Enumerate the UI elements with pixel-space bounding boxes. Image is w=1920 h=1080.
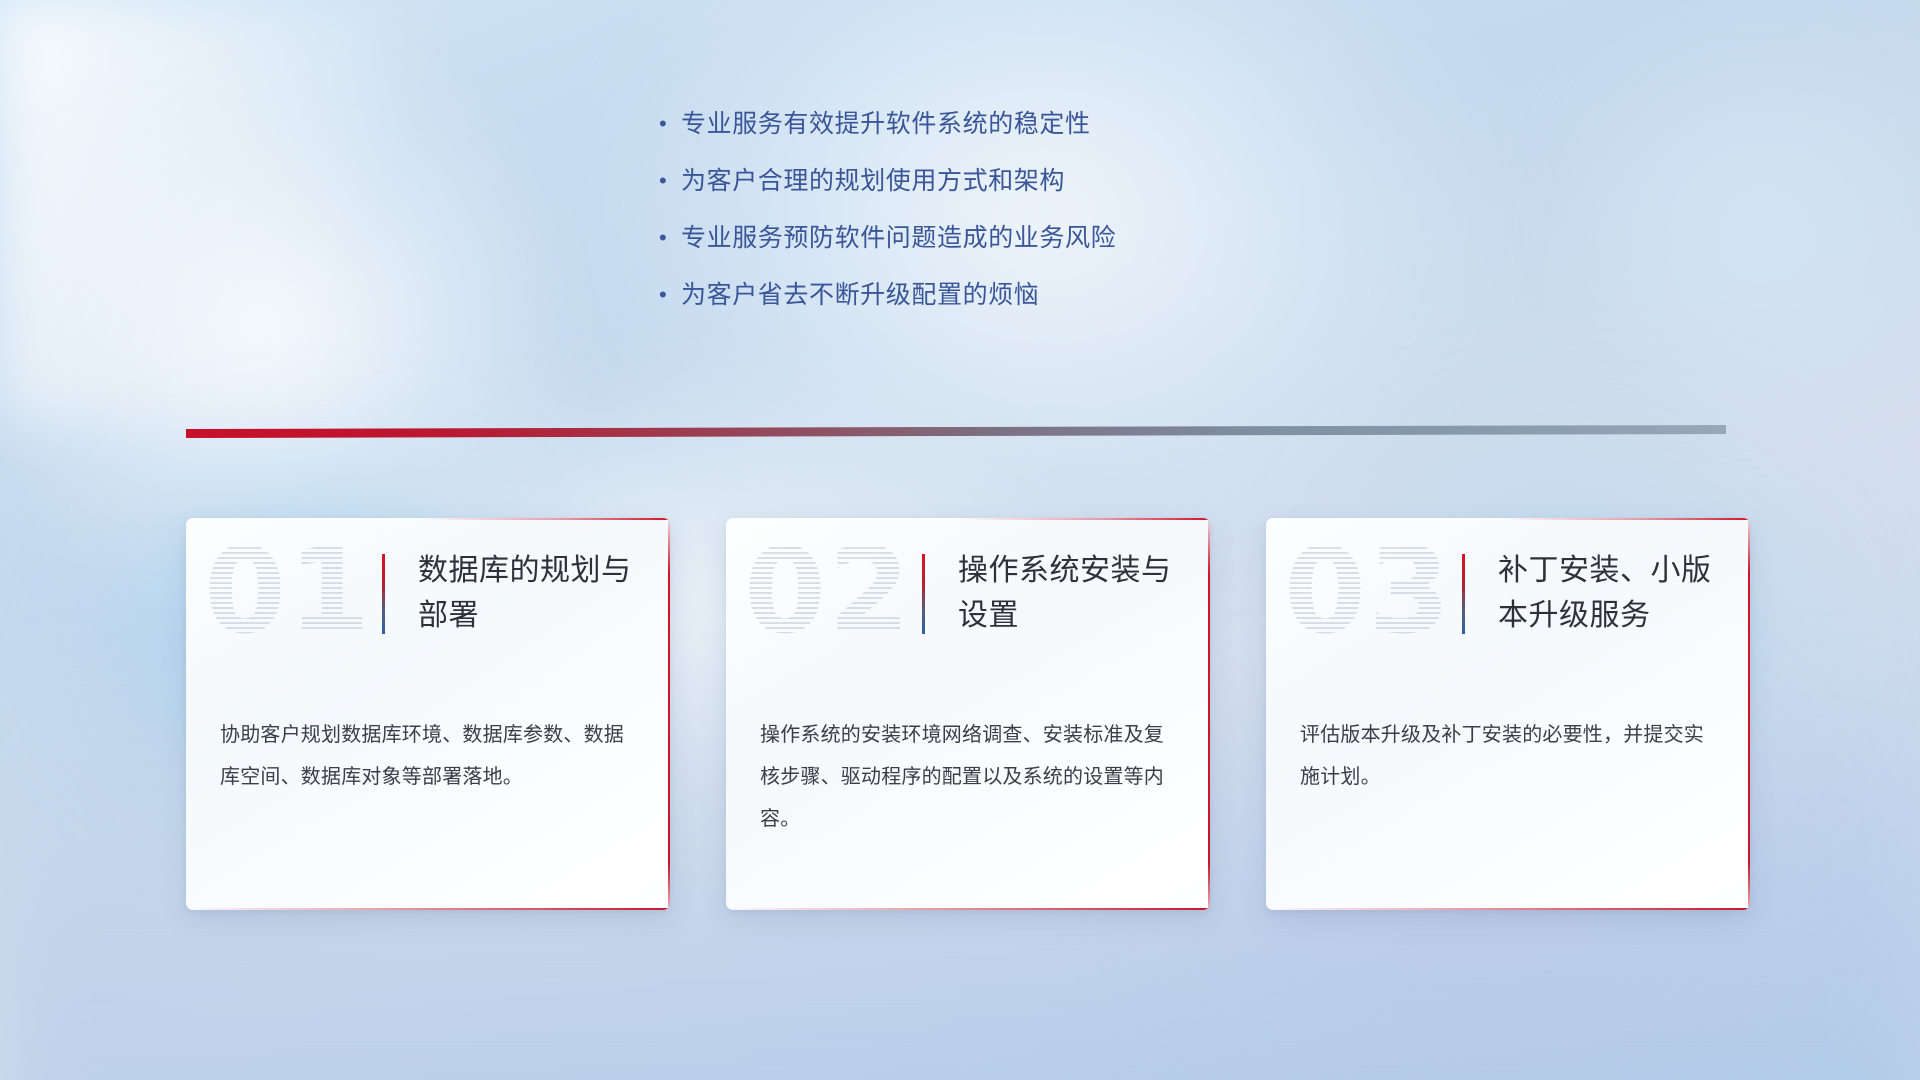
card-title: 补丁安装、小版本升级服务	[1498, 548, 1724, 638]
card-body-text: 协助客户规划数据库环境、数据库参数、数据库空间、数据库对象等部署落地。	[220, 714, 638, 798]
bullet-list-item: • 为客户合理的规划使用方式和架构	[655, 164, 1415, 198]
card-number-watermark: 02	[744, 532, 912, 650]
card-bottom-border	[1266, 908, 1750, 910]
section-divider	[186, 425, 1726, 441]
section-divider-shape	[186, 425, 1726, 441]
card-accent-bar	[1462, 554, 1465, 634]
card-bottom-border	[726, 908, 1210, 910]
card-header: 02 操作系统安装与设置	[726, 518, 1210, 688]
card-accent-bar	[382, 554, 385, 634]
card-bottom-border	[186, 908, 670, 910]
bullet-text: 专业服务有效提升软件系统的稳定性	[681, 107, 1091, 141]
service-card[interactable]: 01 数据库的规划与部署 协助客户规划数据库环境、数据库参数、数据库空间、数据库…	[186, 518, 670, 910]
card-number-watermark: 03	[1284, 532, 1452, 650]
bullet-list-item: • 专业服务预防软件问题造成的业务风险	[655, 221, 1415, 255]
card-number-watermark: 01	[204, 532, 372, 650]
card-accent-bar	[922, 554, 925, 634]
bullet-dot-icon: •	[655, 278, 681, 312]
card-body-text: 评估版本升级及补丁安装的必要性，并提交实施计划。	[1300, 714, 1718, 798]
card-header: 03 补丁安装、小版本升级服务	[1266, 518, 1750, 688]
card-title: 数据库的规划与部署	[418, 548, 644, 638]
bullet-list-item: • 为客户省去不断升级配置的烦恼	[655, 278, 1415, 312]
bullet-list: • 专业服务有效提升软件系统的稳定性 • 为客户合理的规划使用方式和架构 • 专…	[655, 107, 1415, 335]
bullet-dot-icon: •	[655, 221, 681, 255]
bullet-text: 为客户省去不断升级配置的烦恼	[681, 278, 1039, 312]
bullet-text: 专业服务预防软件问题造成的业务风险	[681, 221, 1116, 255]
card-title: 操作系统安装与设置	[958, 548, 1184, 638]
bullet-dot-icon: •	[655, 107, 681, 141]
bullet-text: 为客户合理的规划使用方式和架构	[681, 164, 1065, 198]
card-body-text: 操作系统的安装环境网络调查、安装标准及复核步骤、驱动程序的配置以及系统的设置等内…	[760, 714, 1178, 840]
card-header: 01 数据库的规划与部署	[186, 518, 670, 688]
service-card[interactable]: 02 操作系统安装与设置 操作系统的安装环境网络调查、安装标准及复核步骤、驱动程…	[726, 518, 1210, 910]
bullet-list-item: • 专业服务有效提升软件系统的稳定性	[655, 107, 1415, 141]
bullet-dot-icon: •	[655, 164, 681, 198]
service-card[interactable]: 03 补丁安装、小版本升级服务 评估版本升级及补丁安装的必要性，并提交实施计划。	[1266, 518, 1750, 910]
card-row: 01 数据库的规划与部署 协助客户规划数据库环境、数据库参数、数据库空间、数据库…	[186, 518, 1750, 910]
